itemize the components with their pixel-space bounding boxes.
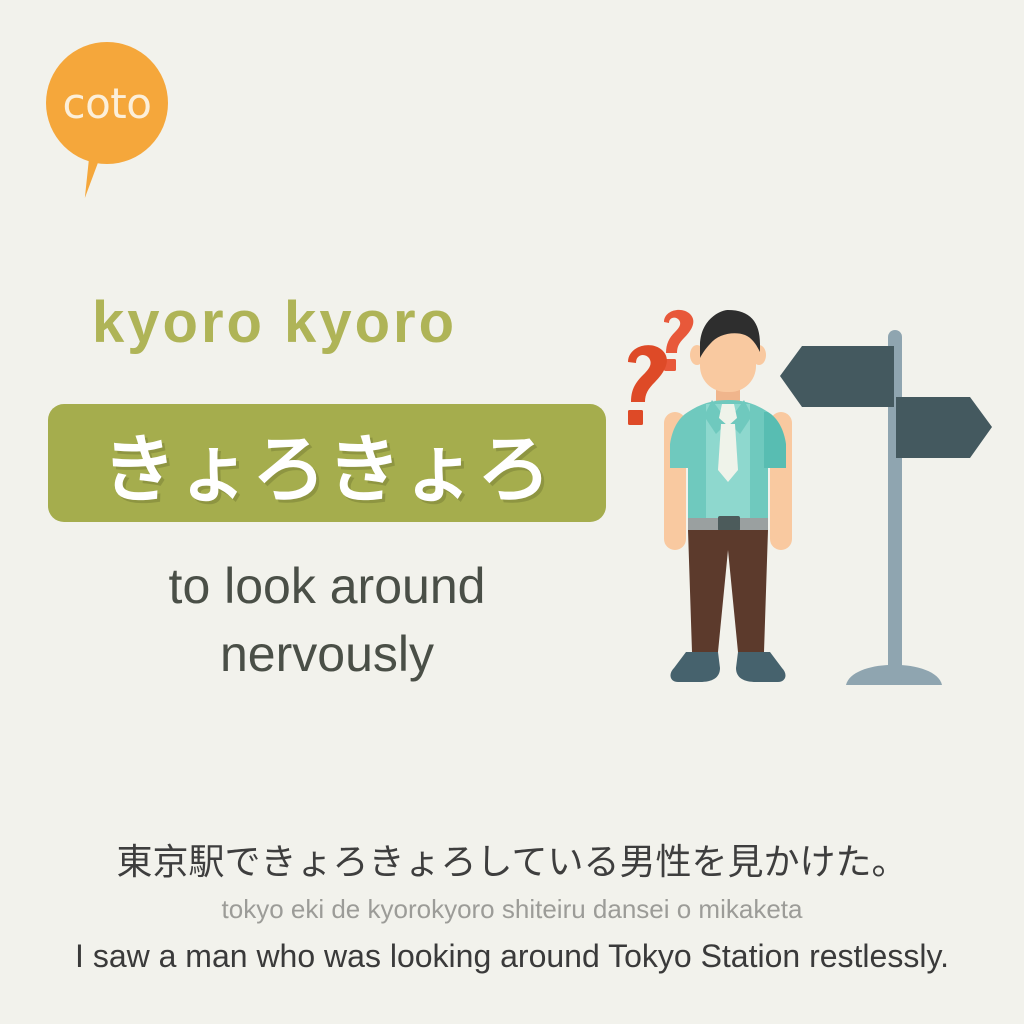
- shoe-left: [671, 652, 720, 682]
- question-mark-large-icon: [628, 345, 667, 425]
- arrow-left-icon: [780, 346, 894, 407]
- word-meaning-line-1: to look around: [48, 552, 606, 620]
- logo-text: coto: [46, 42, 168, 164]
- example-sentence-block: 東京駅できょろきょろしている男性を見かけた。 tokyo eki de kyor…: [0, 840, 1024, 976]
- question-mark-small-icon: [664, 310, 693, 371]
- example-romaji: tokyo eki de kyorokyoro shiteiru dansei …: [0, 893, 1024, 926]
- word-romaji: kyoro kyoro: [92, 294, 457, 352]
- word-kana: きょろきょろ: [48, 404, 606, 522]
- person-figure: [664, 310, 792, 682]
- shoe-right: [736, 652, 785, 682]
- signpost-icon: [780, 330, 992, 685]
- pants: [688, 530, 768, 652]
- coto-logo[interactable]: coto: [46, 42, 168, 194]
- word-kana-box: きょろきょろ: [48, 404, 606, 522]
- word-meaning-line-2: nervously: [48, 620, 606, 688]
- example-japanese: 東京駅できょろきょろしている男性を見かけた。: [0, 840, 1024, 885]
- belt-buckle: [718, 516, 740, 531]
- arrow-right-icon: [896, 397, 992, 458]
- confused-man-at-signpost-illustration: [620, 300, 1006, 700]
- word-meaning: to look around nervously: [48, 552, 606, 688]
- tie: [718, 424, 738, 482]
- card-canvas: coto kyoro kyoro きょろきょろ to look around n…: [0, 0, 1024, 1024]
- example-english: I saw a man who was looking around Tokyo…: [0, 936, 1024, 976]
